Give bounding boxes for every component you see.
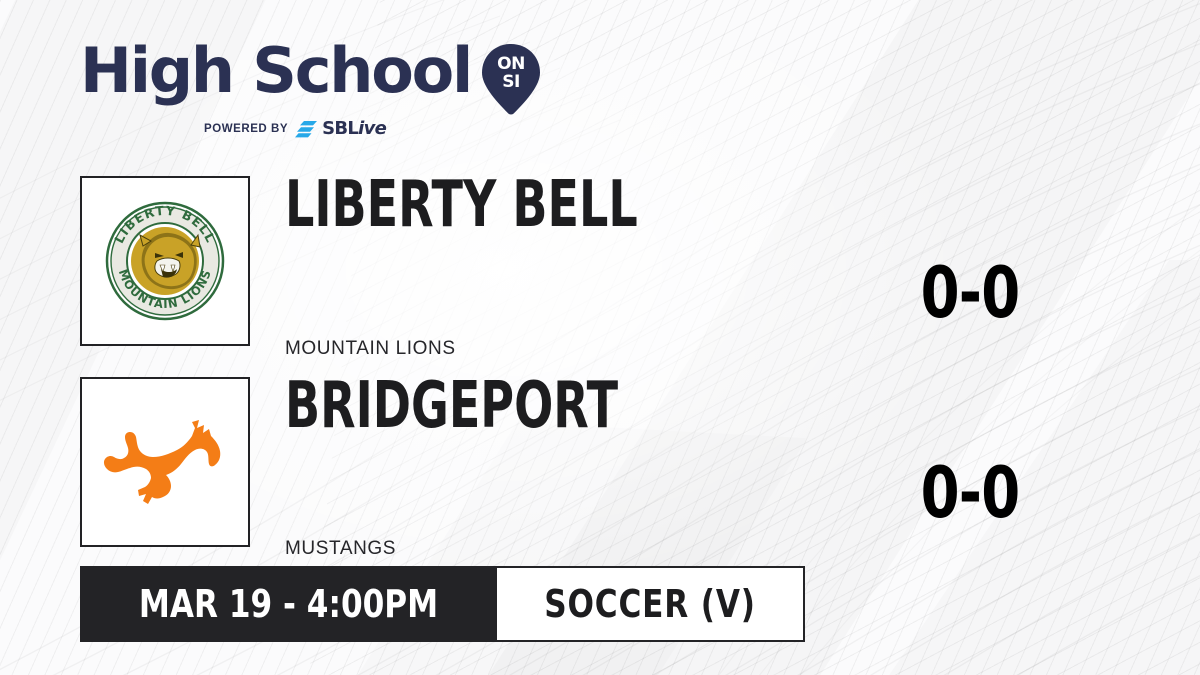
sblive-word-italic: ive (358, 118, 386, 139)
home-team-score: 0-0 (898, 258, 1042, 328)
onsi-pin-icon: ON SI (481, 42, 541, 116)
powered-by-row: POWERED BY SBLive (80, 120, 520, 138)
sblive-s-mark-icon (295, 121, 319, 138)
bridgeport-mustang-icon (101, 412, 229, 512)
game-sport-label: SOCCER (V) (544, 585, 756, 623)
scoreboard-graphic: High School ON SI POWERED BY SBLive (0, 0, 1200, 675)
liberty-bell-mountain-lions-crest-icon: LIBERTY BELL MOUNTAIN LIONS (103, 199, 227, 323)
home-team-mascot: MOUNTAIN LIONS (285, 338, 456, 360)
svg-text:ON: ON (497, 54, 525, 74)
away-team-name: BRIDGEPORT (285, 374, 618, 438)
sblive-wordmark: SBLive (322, 120, 386, 138)
game-datetime-label: MAR 19 - 4:00PM (139, 585, 438, 623)
away-team-logo-box (80, 377, 250, 547)
away-team-score: 0-0 (898, 458, 1042, 528)
background-glow (200, 60, 960, 580)
powered-by-label: POWERED BY (204, 123, 288, 135)
home-team-name: LIBERTY BELL (285, 173, 638, 237)
game-sport-panel: SOCCER (V) (497, 566, 805, 642)
page-title: High School (80, 40, 471, 102)
game-info-bar: MAR 19 - 4:00PM SOCCER (V) (80, 566, 805, 642)
away-team-mascot: MUSTANGS (285, 538, 396, 560)
home-team-logo-box: LIBERTY BELL MOUNTAIN LIONS (80, 176, 250, 346)
svg-text:SI: SI (502, 72, 520, 92)
brand-lockup: High School ON SI POWERED BY SBLive (80, 40, 520, 136)
sblive-logo: SBLive (295, 120, 386, 138)
game-datetime-panel: MAR 19 - 4:00PM (80, 566, 497, 642)
sblive-word-bold: SBL (322, 118, 358, 139)
